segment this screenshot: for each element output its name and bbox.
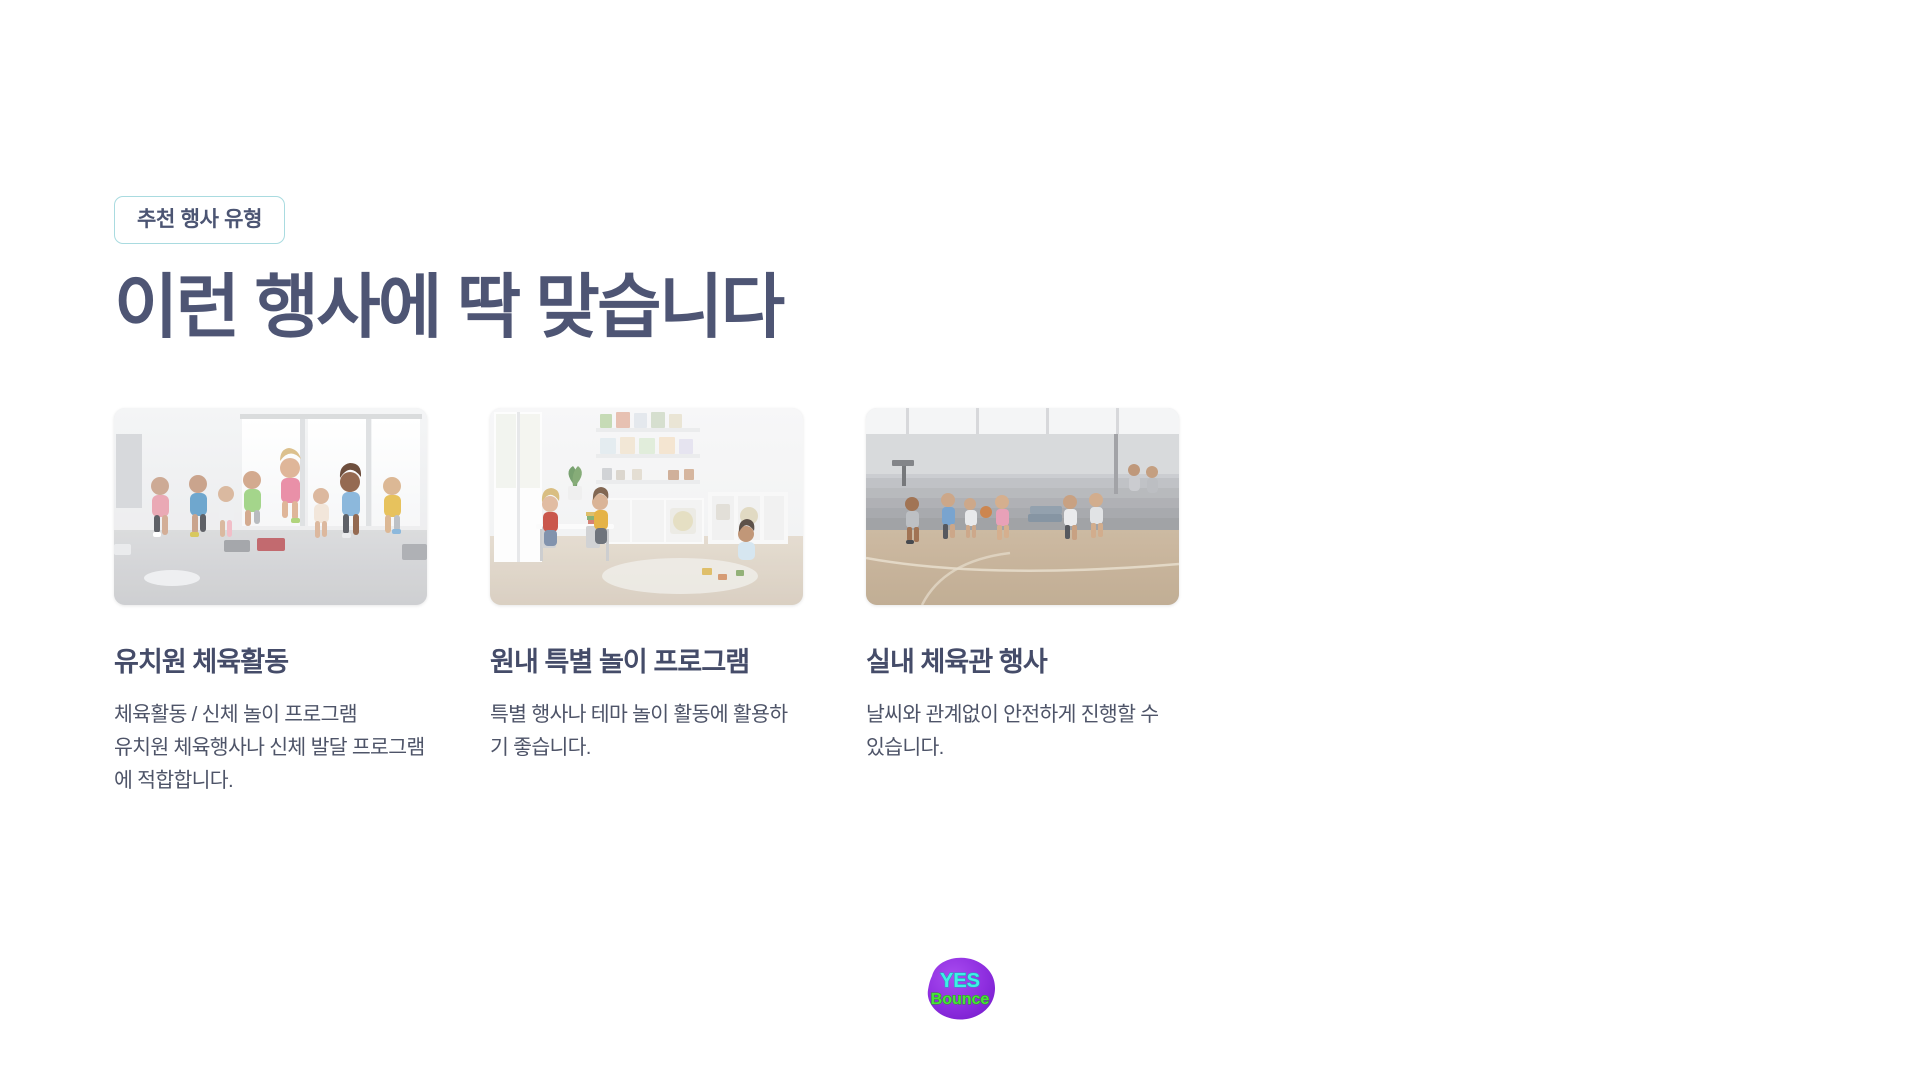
card-item: 원내 특별 놀이 프로그램 특별 행사나 테마 놀이 활동에 활용하기 좋습니다… [490,408,803,798]
gym-running-children-image [114,408,427,605]
card-thumbnail-kindergarten-pe [114,408,427,605]
yesbounce-logo-icon: YES Bounce [920,952,1000,1024]
section-badge: 추천 행사 유형 [114,196,285,244]
card-item: 유치원 체육활동 체육활동 / 신체 놀이 프로그램 유치원 체육행사나 신체 … [114,408,427,798]
card-description: 날씨와 관계없이 안전하게 진행할 수 있습니다. [866,698,1179,764]
card-item: 실내 체육관 행사 날씨와 관계없이 안전하게 진행할 수 있습니다. [866,408,1179,798]
slide-root: 추천 행사 유형 이런 행사에 딱 맞습니다 [0,0,1920,1080]
header-block: 추천 행사 유형 이런 행사에 딱 맞습니다 [114,196,783,345]
card-title: 실내 체육관 행사 [866,647,1179,678]
card-description: 체육활동 / 신체 놀이 프로그램 유치원 체육행사나 신체 발달 프로그램에 … [114,698,427,798]
footer-logo-area: YES Bounce [0,952,1920,1024]
classroom-play-image [490,408,803,605]
card-description: 특별 행사나 테마 놀이 활동에 활용하기 좋습니다. [490,698,803,764]
indoor-gymnasium-image [866,408,1179,605]
card-thumbnail-special-play-program [490,408,803,605]
page-title: 이런 행사에 딱 맞습니다 [114,271,783,345]
card-thumbnail-indoor-gym-event [866,408,1179,605]
card-title: 유치원 체육활동 [114,647,427,678]
card-list: 유치원 체육활동 체육활동 / 신체 놀이 프로그램 유치원 체육행사나 신체 … [114,408,1814,798]
card-title: 원내 특별 놀이 프로그램 [490,647,803,678]
logo-bounce-text: Bounce [931,991,990,1008]
logo-yes-text: YES [940,970,980,992]
